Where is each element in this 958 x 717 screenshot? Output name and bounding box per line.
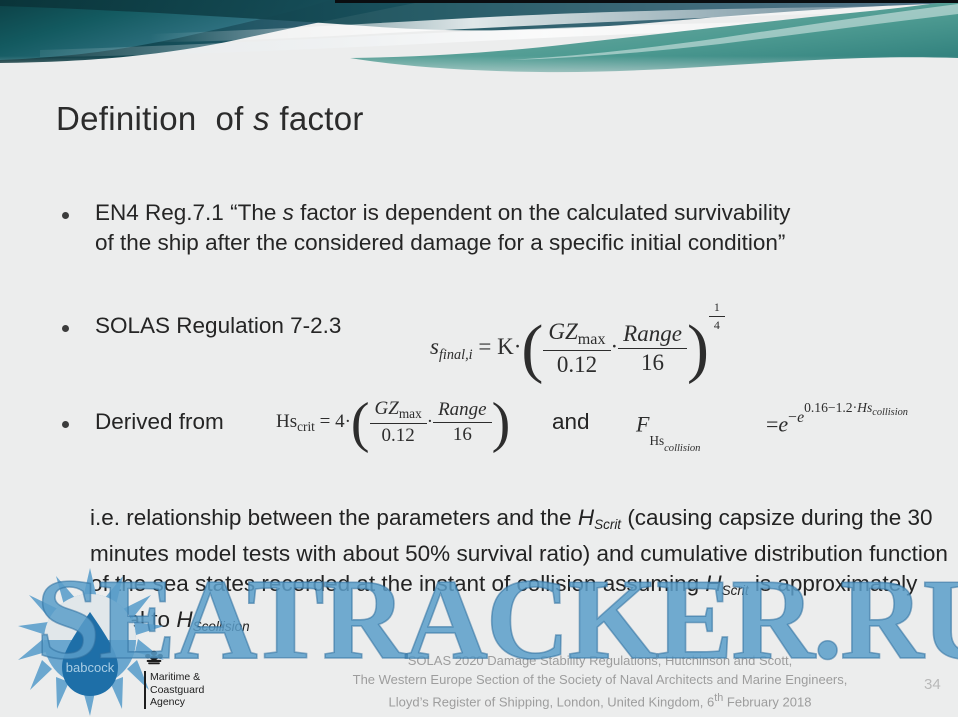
f-hs-exponent-group: −e0.16−1.2·Hscollision: [788, 400, 908, 427]
f-hs-sub-collision: collision: [664, 443, 700, 454]
para-h1: H: [578, 505, 594, 530]
s-final-gz-sub: max: [578, 331, 606, 348]
bullet-marker-derived: [62, 421, 69, 428]
footer-line-3-b: February 2018: [723, 694, 811, 709]
f-hs-exp-inner: 0.16−1.2·Hscollision: [804, 400, 908, 418]
page-title-prefix: Definition of: [56, 100, 253, 137]
s-final-paren-close: ): [687, 332, 709, 366]
hs-crit-gz-den: 0.12: [370, 424, 427, 447]
crown-icon: [144, 650, 164, 665]
hs-crit-equals: =: [320, 411, 331, 432]
para-h2: H: [705, 571, 721, 596]
s-final-subscript: final,i: [439, 347, 473, 363]
s-final-exp-num: 1: [709, 300, 725, 317]
header-top-rule: [335, 0, 958, 3]
bullet-marker-en4: [62, 212, 69, 219]
hs-crit-paren-open: (: [351, 409, 370, 437]
page-title-italic: s: [253, 100, 270, 137]
mca-wordmark: Maritime & Coastguard Agency: [144, 671, 210, 709]
f-hs-exp-top: 0.16−1.2: [804, 400, 853, 415]
s-final-dot: ·: [514, 334, 522, 359]
f-hs-symbol: F: [636, 412, 649, 437]
hs-crit-range-den: 16: [433, 423, 492, 446]
hs-crit-fraction-gz: GZmax0.12: [370, 398, 427, 447]
para-h3-sub: Scollision: [193, 619, 250, 634]
bullet-text-en4: EN4 Reg.7.1 “The s factor is dependent o…: [95, 198, 945, 258]
para-h2-sub: Scrit: [722, 583, 749, 598]
s-final-paren-open: (: [521, 332, 543, 366]
para-h1-sub: Scrit: [594, 517, 621, 532]
s-final-exponent: 14: [709, 300, 725, 333]
hs-crit-coefficient: 4: [335, 411, 345, 432]
en4-line1-b: factor is dependent on the calculated su…: [294, 200, 791, 225]
en4-line2: of the ship after the considered damage …: [95, 230, 785, 255]
hs-crit-paren-close: ): [492, 409, 511, 437]
footer-line-3-a: Lloyd’s Register of Shipping, London, Un…: [389, 694, 715, 709]
f-hs-exp-hs-sub: collision: [872, 407, 908, 418]
page-title-suffix: factor: [270, 100, 364, 137]
hs-crit-symbol: Hs: [276, 411, 297, 432]
formula-hs-crit: Hscrit = 4·(GZmax0.12·Range16): [276, 398, 510, 447]
s-final-symbol: s: [430, 334, 439, 359]
s-final-fraction-range: Range16: [618, 321, 687, 376]
formula-f-hs-collision: FHscollision =e−e0.16−1.2·Hscollision: [636, 400, 908, 454]
s-final-middot: ·: [611, 334, 619, 359]
mca-line-2: Coastguard: [150, 684, 210, 697]
bullet-text-derived: Derived from: [95, 407, 224, 437]
header-wave-banner: [0, 0, 958, 90]
s-final-range: Range: [618, 321, 687, 349]
maritime-coastguard-agency-logo: Maritime & Coastguard Agency: [144, 650, 210, 710]
footer-citation: SOLAS 2020 Damage Stability Regulations,…: [300, 652, 900, 712]
page-number: 34: [924, 676, 941, 693]
s-final-range-den: 16: [618, 349, 687, 376]
footer-line-2: The Western Europe Section of the Societ…: [300, 671, 900, 690]
f-hs-exp-e: e: [797, 409, 804, 426]
explanatory-paragraph: i.e. relationship between the parameters…: [90, 503, 952, 641]
s-final-equals: =: [478, 334, 491, 359]
f-hs-exp-minus: −: [788, 409, 797, 426]
hs-crit-range: Range: [433, 399, 492, 423]
s-final-gz: GZ: [548, 319, 577, 344]
formula-s-final: sfinal,i = K·(GZmax0.12·Range16)14: [430, 300, 725, 378]
footer-line-1: SOLAS 2020 Damage Stability Regulations,…: [300, 652, 900, 671]
f-hs-equals: =: [766, 412, 778, 437]
f-hs-subscript-group: Hscollision: [649, 433, 700, 454]
hs-crit-fraction-range: Range16: [433, 399, 492, 446]
para-seg1: i.e. relationship between the parameters…: [90, 505, 578, 530]
s-final-coefficient: K: [497, 334, 514, 359]
mca-line-3: Agency: [150, 696, 210, 709]
mca-line-1: Maritime &: [150, 671, 210, 684]
wave-graphic: [0, 0, 958, 90]
s-final-exp-den: 4: [709, 317, 725, 333]
hs-crit-gz: GZ: [375, 398, 399, 419]
page-title: Definition of s factor: [56, 100, 364, 138]
f-hs-exp-hs: Hs: [857, 400, 872, 415]
s-final-fraction-gz: GZmax0.12: [543, 319, 610, 378]
en4-line1-italic: s: [283, 200, 294, 225]
en4-line1-a: EN4 Reg.7.1 “The: [95, 200, 283, 225]
slide-canvas: Definition of s factor EN4 Reg.7.1 “The …: [0, 0, 958, 717]
hs-crit-gz-sub: max: [399, 406, 422, 421]
f-hs-base: e: [778, 412, 788, 437]
bullet-text-solas: SOLAS Regulation 7-2.3: [95, 311, 341, 341]
s-final-gz-den: 0.12: [543, 351, 610, 378]
para-h3: H: [176, 607, 192, 632]
bullet-marker-solas: [62, 325, 69, 332]
formula-conjunction: and: [552, 407, 590, 437]
hs-crit-subscript: crit: [297, 419, 315, 434]
footer-line-3-ordinal: th: [714, 692, 723, 704]
f-hs-sub-hs: Hs: [649, 433, 664, 448]
babcock-wordmark: babcock: [66, 660, 115, 675]
footer-line-3: Lloyd’s Register of Shipping, London, Un…: [300, 689, 900, 712]
